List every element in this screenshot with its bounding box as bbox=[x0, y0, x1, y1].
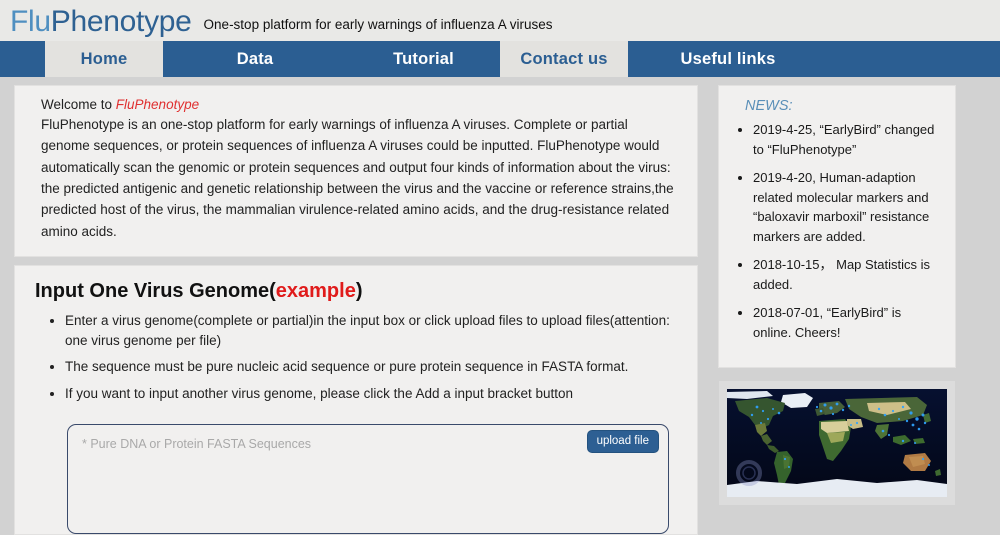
nav-tab-contact-us[interactable]: Contact us bbox=[500, 41, 628, 77]
list-item: 2019-4-20, Human-adaption related molecu… bbox=[753, 168, 941, 246]
main-content-column: Welcome to FluPhenotype FluPhenotype is … bbox=[14, 85, 698, 535]
upload-file-button[interactable]: upload file bbox=[587, 430, 659, 453]
welcome-description: FluPhenotype is an one-stop platform for… bbox=[41, 114, 679, 242]
nav-tab-data[interactable]: Data bbox=[163, 41, 347, 77]
news-list: 2019-4-25, “EarlyBird” changed to “FluPh… bbox=[731, 120, 941, 342]
logo-suffix: Phenotype bbox=[51, 5, 192, 38]
site-header: FluPhenotype One-stop platform for early… bbox=[0, 0, 1000, 41]
input-heading-text: Input One Virus Genome( bbox=[35, 280, 276, 302]
list-item: 2018-07-01, “EarlyBird” is online. Cheer… bbox=[753, 303, 941, 342]
world-map-image bbox=[727, 389, 947, 497]
sidebar-column: NEWS: 2019-4-25, “EarlyBird” changed to … bbox=[718, 85, 956, 535]
welcome-brand-name: FluPhenotype bbox=[116, 97, 199, 112]
page-body: Welcome to FluPhenotype FluPhenotype is … bbox=[0, 77, 1000, 535]
list-item: Enter a virus genome(complete or partial… bbox=[65, 311, 679, 352]
nav-tab-tutorial[interactable]: Tutorial bbox=[347, 41, 500, 77]
site-tagline: One-stop platform for early warnings of … bbox=[204, 17, 553, 39]
list-item: The sequence must be pure nucleic acid s… bbox=[65, 357, 679, 377]
list-item: 2018-10-15， Map Statistics is added. bbox=[753, 255, 941, 294]
sequence-input-wrapper: upload file bbox=[67, 424, 669, 534]
welcome-greeting: Welcome to FluPhenotype bbox=[41, 97, 679, 112]
input-heading-close: ) bbox=[356, 280, 363, 302]
welcome-greeting-text: Welcome to bbox=[41, 97, 116, 112]
input-section-heading: Input One Virus Genome(example) bbox=[35, 280, 679, 303]
welcome-panel: Welcome to FluPhenotype FluPhenotype is … bbox=[14, 85, 698, 257]
main-navigation: Home Data Tutorial Contact us Useful lin… bbox=[0, 41, 1000, 77]
input-instructions-list: Enter a virus genome(complete or partial… bbox=[35, 311, 679, 410]
nav-tab-home[interactable]: Home bbox=[45, 41, 163, 77]
sequence-input[interactable] bbox=[67, 424, 669, 534]
news-title: NEWS: bbox=[745, 98, 941, 114]
nav-tab-useful-links[interactable]: Useful links bbox=[628, 41, 828, 77]
list-item: 2019-4-25, “EarlyBird” changed to “FluPh… bbox=[753, 120, 941, 159]
input-genome-panel: Input One Virus Genome(example) Enter a … bbox=[14, 265, 698, 535]
world-map-panel[interactable] bbox=[718, 380, 956, 506]
list-item: If you want to input another virus genom… bbox=[65, 384, 679, 404]
logo-prefix: Flu bbox=[10, 5, 51, 38]
example-link[interactable]: example bbox=[276, 280, 356, 302]
site-logo[interactable]: FluPhenotype bbox=[10, 7, 192, 39]
news-panel: NEWS: 2019-4-25, “EarlyBird” changed to … bbox=[718, 85, 956, 368]
